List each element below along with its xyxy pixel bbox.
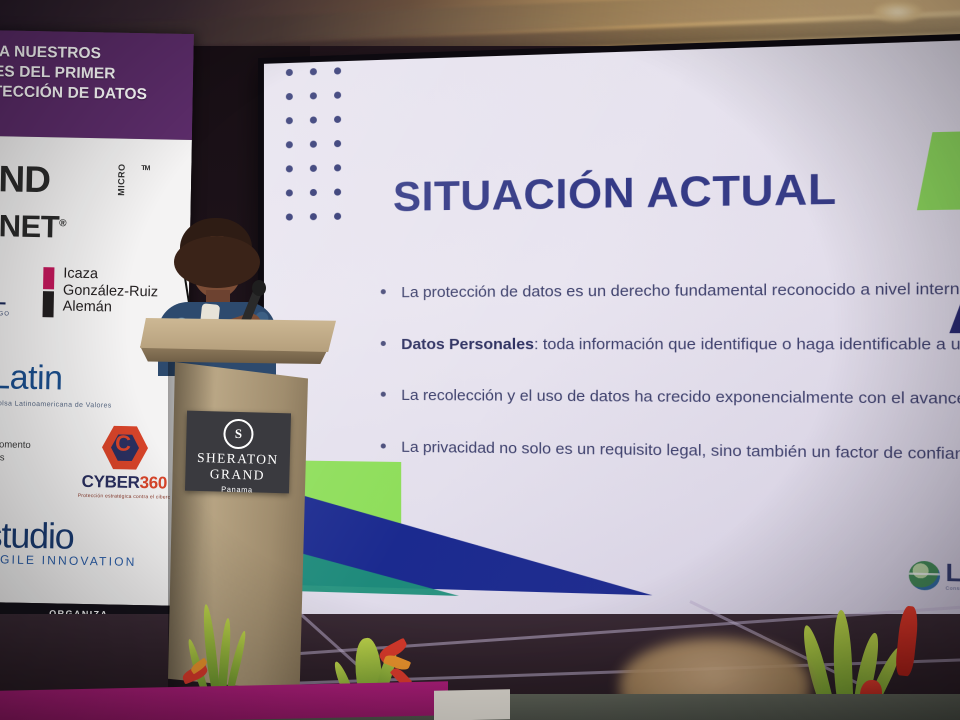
slide-accent-green-top-right xyxy=(917,130,960,210)
stage-white-panel xyxy=(434,689,510,720)
venue-name-line-2: GRAND xyxy=(185,465,289,483)
grid-dot xyxy=(334,164,341,171)
plant-flower xyxy=(894,605,919,676)
bullet-lead: Datos Personales xyxy=(401,335,534,353)
conference-photo: MOS A NUESTROS DORES DEL PRIMER PROTECCI… xyxy=(0,0,960,720)
bullet-text: : toda información que identifique o hag… xyxy=(534,335,960,354)
grid-dot xyxy=(334,140,341,147)
latinex-wordmark: Latin xyxy=(0,358,63,398)
icaza-mark-top xyxy=(43,267,54,289)
latinex-logo: Latin Bolsa Latinoamericana de Valores xyxy=(0,358,152,362)
grid-dot xyxy=(310,213,317,220)
microphone-head xyxy=(252,280,266,296)
plant-left xyxy=(176,590,286,700)
bullet-text: La privacidad no solo es un requisito le… xyxy=(401,438,960,464)
trend-micro-sub: MICRO xyxy=(116,163,127,196)
grid-dot xyxy=(286,69,293,76)
fortinet-registered-mark: ® xyxy=(59,218,66,229)
grid-dot xyxy=(286,189,293,196)
cyber360-name: CYBER xyxy=(81,472,139,492)
podium-top-surface xyxy=(140,318,336,352)
sheraton-crest-icon: S xyxy=(223,419,254,450)
grid-dot xyxy=(334,188,341,195)
fortinet-wordmark: RTINET xyxy=(0,207,60,244)
bullet-text: La recolección y el uso de datos ha crec… xyxy=(401,387,960,409)
grid-dot xyxy=(310,116,317,123)
trend-micro-wordmark: REND xyxy=(0,157,50,200)
slide-bullet-item: La recolección y el uso de datos ha crec… xyxy=(377,384,960,414)
speaker-hair-front xyxy=(174,236,260,288)
grid-dot xyxy=(334,92,341,99)
venue-sign: S SHERATON GRAND Panama xyxy=(185,411,291,494)
grid-dot xyxy=(286,117,293,124)
fortinet-logo: RTINET® xyxy=(0,207,66,245)
banner-header: MOS A NUESTROS DORES DEL PRIMER PROTECCI… xyxy=(0,30,194,140)
slide-bullet-list: La protección de datos es un derecho fun… xyxy=(377,275,960,500)
icaza-mark-bottom xyxy=(42,291,53,317)
grid-dot xyxy=(310,92,317,99)
cyber360-letter: C xyxy=(115,433,131,455)
presentation-slide: SITUACIÓN ACTUAL La protección de datos … xyxy=(264,38,960,643)
trend-micro-tm: TM xyxy=(141,165,149,172)
projection-screen-frame: SITUACIÓN ACTUAL La protección de datos … xyxy=(258,32,960,656)
grid-dot xyxy=(334,67,341,74)
ceiling-light xyxy=(874,2,922,22)
grid-dot xyxy=(310,141,317,148)
grid-dot xyxy=(286,213,293,220)
grid-dot xyxy=(310,189,317,196)
grid-dot xyxy=(310,165,317,172)
dot-grid-decoration xyxy=(286,67,358,238)
banner-heading-text: MOS A NUESTROS DORES DEL PRIMER PROTECCI… xyxy=(0,41,190,106)
slide-title: SITUACIÓN ACTUAL xyxy=(393,164,837,221)
slide-bullet-item: Datos Personales: toda información que i… xyxy=(377,331,960,357)
venue-name-line-1: SHERATON xyxy=(186,451,290,468)
logicstudio-light-part: studio xyxy=(0,514,74,557)
latinex-tagline: Bolsa Latinoamericana de Valores xyxy=(0,400,112,409)
slide-bullet-item: La protección de datos es un derecho fun… xyxy=(377,275,960,305)
bullet-text: La protección de datos es un derecho fun… xyxy=(401,280,960,302)
grid-dot xyxy=(334,116,341,123)
grid-dot xyxy=(286,141,293,148)
grid-dot xyxy=(286,165,293,172)
grid-dot xyxy=(334,213,341,220)
trend-micro-logo: REND MICRO TM xyxy=(0,157,160,203)
grid-dot xyxy=(286,93,293,100)
slide-bullet-item: La privacidad no solo es un requisito le… xyxy=(377,435,960,470)
banner-heading-line-3: PROTECCIÓN DE DATOS xyxy=(0,82,189,107)
grid-dot xyxy=(310,68,317,75)
